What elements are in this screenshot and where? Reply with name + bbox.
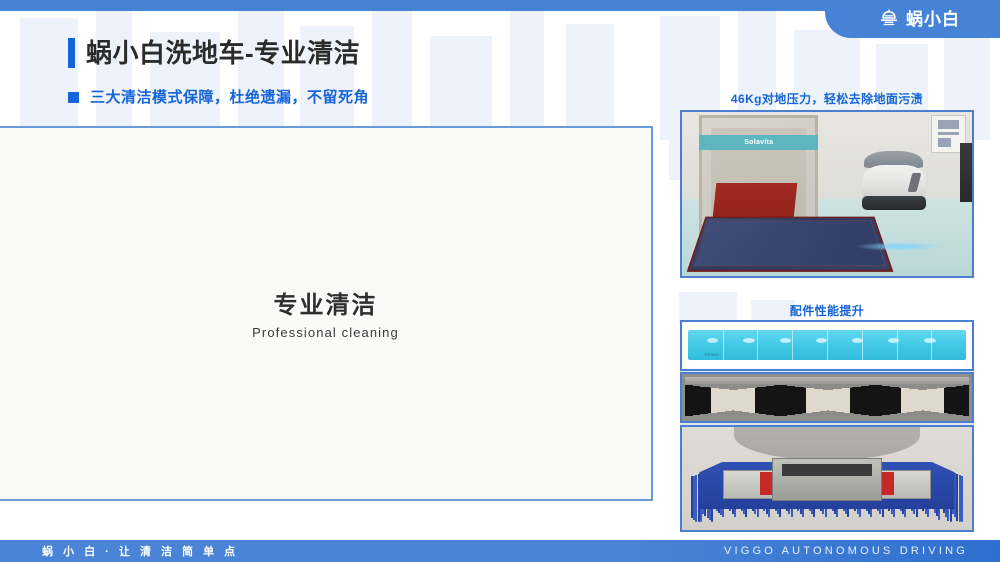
footer-bar: 蜗 小 白 · 让 清 洁 简 单 点 VIGGO AUTONOMOUS DRI… (0, 540, 1000, 562)
brand-logo-text: 蜗小白 (906, 11, 960, 28)
footer-company: VIGGO AUTONOMOUS DRIVING (724, 545, 968, 557)
bullet-square-icon (68, 92, 79, 103)
main-content-label: 专业清洁 Professional cleaning (252, 291, 399, 340)
accessories-photo-stack: PRIMO (680, 320, 974, 532)
main-title-cn: 专业清洁 (252, 291, 399, 321)
robot-dome-icon (879, 9, 899, 29)
mop-attachment-photo (680, 425, 974, 532)
footer-slogan: 蜗 小 白 · 让 清 洁 简 单 点 (42, 543, 239, 559)
photo-1-caption: 46Kg对地压力，轻松去除地面污渍 (672, 90, 982, 107)
slide-root: 蜗小白 蜗小白洗地车-专业清洁 三大清洁模式保障，杜绝遗漏，不留死角 专业清洁 … (0, 0, 1000, 562)
title-accent-bar (68, 38, 75, 68)
page-title: 蜗小白洗地车-专业清洁 (68, 38, 360, 68)
brand-logo-banner: 蜗小白 (825, 0, 1000, 38)
page-subtitle-text: 三大清洁模式保障，杜绝遗漏，不留死角 (90, 90, 369, 105)
page-title-text: 蜗小白洗地车-专业清洁 (86, 40, 360, 66)
cleaning-robot (862, 151, 926, 213)
roller-brush-photo (680, 372, 974, 423)
photo-2-caption: 配件性能提升 (672, 302, 982, 319)
blade-brand-label: PRIMO (705, 352, 720, 357)
robot-in-lobby-photo: Solavita (680, 110, 974, 278)
squeegee-blade-photo: PRIMO (680, 320, 974, 371)
main-content-box: 专业清洁 Professional cleaning (0, 126, 653, 501)
page-subtitle: 三大清洁模式保障，杜绝遗漏，不留死角 (68, 90, 369, 105)
solavita-sign-text: Solavita (744, 139, 773, 146)
solavita-sign: Solavita (699, 135, 818, 150)
main-title-en: Professional cleaning (252, 325, 399, 340)
person-silhouette (960, 143, 972, 202)
